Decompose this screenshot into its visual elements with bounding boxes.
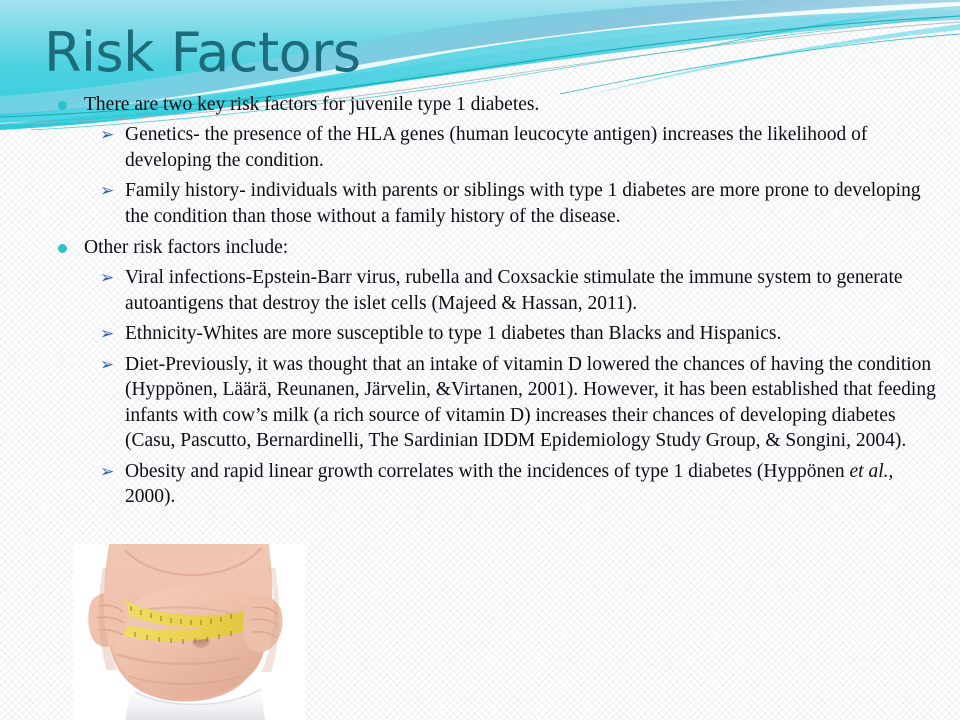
bullet-arrow-icon: ➢ <box>100 180 114 202</box>
bullet-arrow-icon: ➢ <box>100 323 114 345</box>
bullet-dot-icon <box>58 244 67 253</box>
obesity-waist-measurement-photo <box>73 544 305 720</box>
bullet-text: Ethnicity-Whites are more susceptible to… <box>125 323 781 344</box>
bullet-level2: ➢ Family history- individuals with paren… <box>0 178 960 229</box>
bullet-level2: ➢ Obesity and rapid linear growth correl… <box>0 459 960 510</box>
bullet-text: Diet-Previously, it was thought that an … <box>125 354 936 452</box>
slide-canvas: Risk Factors There are two key risk fact… <box>0 0 960 720</box>
bullet-arrow-icon: ➢ <box>100 461 114 483</box>
slide-body: There are two key risk factors for juven… <box>0 92 960 510</box>
page-title: Risk Factors <box>44 26 361 80</box>
bullet-text: Other risk factors include: <box>84 237 288 258</box>
bullet-level2: ➢ Diet-Previously, it was thought that a… <box>0 352 960 454</box>
bullet-text: Family history- individuals with parents… <box>125 180 921 227</box>
bullet-text-italic: et al., <box>850 461 894 482</box>
bullet-text: There are two key risk factors for juven… <box>84 94 539 115</box>
bullet-level2: ➢ Genetics- the presence of the HLA gene… <box>0 122 960 173</box>
bullet-arrow-icon: ➢ <box>100 267 114 289</box>
bullet-text-part2: 2000). <box>125 486 175 507</box>
bullet-level1: There are two key risk factors for juven… <box>0 92 960 117</box>
bullet-text: Viral infections-Epstein-Barr virus, rub… <box>125 267 903 314</box>
bullet-arrow-icon: ➢ <box>100 354 114 376</box>
bullet-arrow-icon: ➢ <box>100 124 114 146</box>
bullet-dot-icon <box>58 101 67 110</box>
bullet-level2: ➢ Viral infections-Epstein-Barr virus, r… <box>0 265 960 316</box>
bullet-text-part1: Obesity and rapid linear growth correlat… <box>125 461 850 482</box>
bullet-level2: ➢ Ethnicity-Whites are more susceptible … <box>0 321 960 347</box>
bullet-text: Genetics- the presence of the HLA genes … <box>125 124 867 171</box>
bullet-level1: Other risk factors include: <box>0 235 960 260</box>
